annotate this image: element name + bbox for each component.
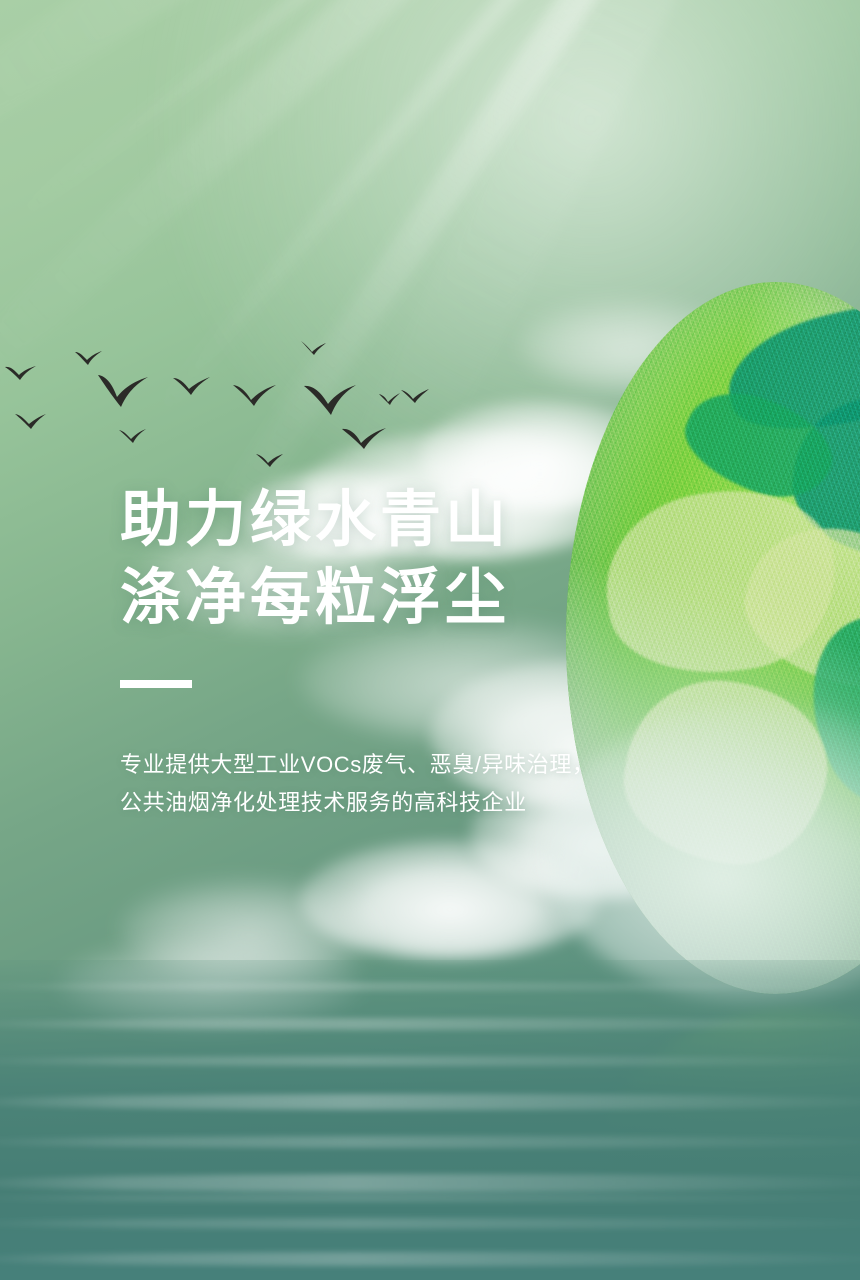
headline-line-2: 涤净每粒浮尘 <box>120 558 740 636</box>
bird-icon <box>302 382 358 418</box>
water-ripple <box>0 1094 860 1110</box>
water-ripple <box>0 1056 860 1066</box>
subtitle-line-2: 公共油烟净化处理技术服务的高科技企业 <box>120 784 740 822</box>
poster-banner: 助力绿水青山 涤净每粒浮尘 专业提供大型工业VOCs废气、恶臭/异味治理， 公共… <box>0 0 860 1280</box>
subtitle: 专业提供大型工业VOCs废气、恶臭/异味治理， 公共油烟净化处理技术服务的高科技… <box>120 746 740 822</box>
bird-icon <box>14 412 48 430</box>
subtitle-line-1: 专业提供大型工业VOCs废气、恶臭/异味治理， <box>120 746 740 784</box>
headline-divider <box>120 680 192 688</box>
water-surface <box>0 960 860 1280</box>
headline: 助力绿水青山 涤净每粒浮尘 <box>120 480 740 636</box>
bird-icon <box>172 375 212 397</box>
bird-flock <box>0 330 520 470</box>
water-ripple <box>0 1174 860 1192</box>
water-ripple <box>0 982 860 991</box>
bird-icon <box>118 428 148 444</box>
bird-icon <box>95 372 151 410</box>
bird-icon <box>4 364 38 382</box>
water-ripple <box>0 1194 860 1202</box>
bird-icon <box>74 350 104 366</box>
bird-icon <box>255 452 285 468</box>
bird-icon <box>378 392 402 406</box>
bird-icon <box>232 382 278 408</box>
bird-icon <box>300 340 328 356</box>
water-ripple <box>0 1136 860 1148</box>
headline-line-1: 助力绿水青山 <box>120 480 740 558</box>
water-ripple <box>0 1252 860 1266</box>
text-block: 助力绿水青山 涤净每粒浮尘 专业提供大型工业VOCs废气、恶臭/异味治理， 公共… <box>120 480 740 822</box>
bird-icon <box>340 425 388 451</box>
water-ripple <box>0 1018 860 1030</box>
bird-icon <box>400 388 430 404</box>
water-ripple <box>0 1218 860 1229</box>
